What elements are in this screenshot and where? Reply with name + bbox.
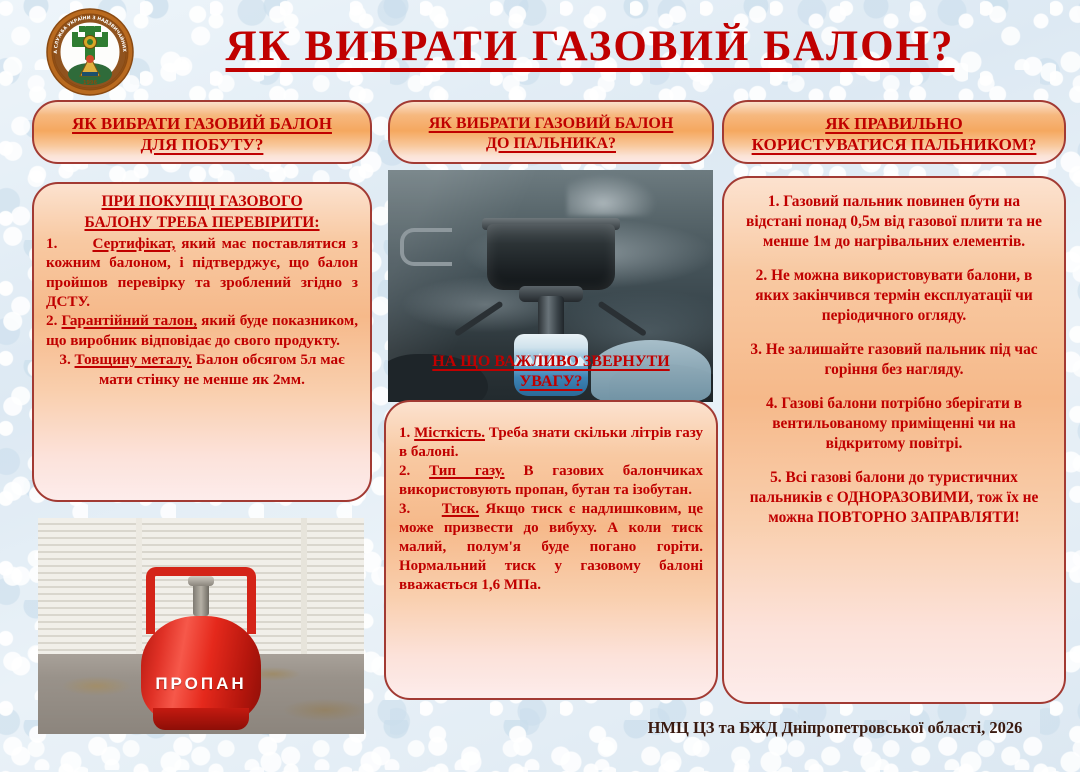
burner-content-panel: 1. Місткість. Треба знати скільки літрів… [384, 400, 718, 700]
usage-item-3: 3. Не залишайте газовий пальник під час … [740, 340, 1048, 380]
column-header-usage: ЯК ПРАВИЛЬНО КОРИСТУВАТИСЯ ПАЛЬНИКОМ? [722, 100, 1066, 164]
cylinder-base [153, 708, 249, 730]
attention-caption: НА ЩО ВАЖЛИВО ЗВЕРНУТИ УВАГУ? [388, 352, 714, 392]
household-item-1-keyword: Сертифікат, [92, 235, 175, 252]
household-text: ПРИ ПОКУПЦІ ГАЗОВОГО БАЛОНУ ТРЕБА ПЕРЕВІ… [34, 184, 370, 393]
burner-item-2-keyword: Тип газу. [429, 463, 505, 479]
pot-handle [400, 228, 452, 266]
usage-item-5: 5. Всі газові балони до туристичних паль… [740, 468, 1048, 528]
column-header-household-label: ЯК ВИБРАТИ ГАЗОВИЙ БАЛОН ДЛЯ ПОБУТУ? [34, 102, 370, 155]
burner-item-2: 2. Тип газу. В газових балончиках викори… [399, 462, 703, 500]
cylinder-valve [193, 582, 209, 616]
household-subtitle-line2: БАЛОНУ ТРЕБА ПЕРЕВІРИТИ: [46, 213, 358, 233]
footer-credit: НМЦ ЦЗ та БЖД Дніпропетровської області,… [600, 718, 1070, 738]
usage-item-1: 1. Газовий пальник повинен бути на відст… [740, 192, 1048, 252]
cylinder-knob [188, 576, 214, 586]
cylinder-label: ПРОПАН [155, 674, 246, 694]
column-header-burner-label: ЯК ВИБРАТИ ГАЗОВИЙ БАЛОН ДО ПАЛЬНИКА? [390, 102, 712, 153]
household-content-panel: ПРИ ПОКУПЦІ ГАЗОВОГО БАЛОНУ ТРЕБА ПЕРЕВІ… [32, 182, 372, 502]
page-title: ЯК ВИБРАТИ ГАЗОВИЙ БАЛОН? [175, 22, 1005, 71]
household-item-3-keyword: Товщину металу. [75, 351, 192, 368]
burner-item-1-keyword: Місткість. [414, 425, 485, 441]
column-header-household: ЯК ВИБРАТИ ГАЗОВИЙ БАЛОН ДЛЯ ПОБУТУ? [32, 100, 372, 164]
usage-text: 1. Газовий пальник повинен бути на відст… [724, 178, 1064, 534]
steam [567, 174, 657, 216]
usage-item-4: 4. Газові балони потрібно зберігати в ве… [740, 394, 1048, 454]
household-item-2-keyword: Гарантійний талон, [62, 312, 198, 329]
cooking-pot [487, 224, 615, 290]
household-item-2: 2. Гарантійний талон, який буде показник… [46, 311, 358, 350]
household-subtitle-line1: ПРИ ПОКУПЦІ ГАЗОВОГО [46, 192, 358, 212]
household-item-1: 1. Сертифікат, який має поставлятися з к… [46, 234, 358, 312]
burner-text: 1. Місткість. Треба знати скільки літрів… [386, 402, 716, 601]
usage-content-panel: 1. Газовий пальник повинен бути на відст… [722, 176, 1066, 704]
burner-item-3: 3. Тиск. Якщо тиск є надлишковим, це мож… [399, 500, 703, 595]
burner-item-1: 1. Місткість. Треба знати скільки літрів… [399, 424, 703, 462]
propane-cylinder-photo: ПРОПАН [38, 518, 364, 734]
column-header-burner: ЯК ВИБРАТИ ГАЗОВИЙ БАЛОН ДО ПАЛЬНИКА? [388, 100, 714, 164]
dsns-emblem-icon: 1996 ДЕРЖАВНА СЛУЖБА УКРАЇНИ З НАДЗВИЧАЙ… [38, 6, 142, 98]
burner-item-3-keyword: Тиск. [442, 501, 479, 517]
usage-item-2: 2. Не можна використовувати балони, в як… [740, 266, 1048, 326]
svg-text:1996: 1996 [83, 80, 97, 86]
household-item-3: 3. Товщину металу. Балон обсягом 5л має … [46, 350, 358, 389]
column-header-usage-label: ЯК ПРАВИЛЬНО КОРИСТУВАТИСЯ ПАЛЬНИКОМ? [724, 102, 1064, 155]
